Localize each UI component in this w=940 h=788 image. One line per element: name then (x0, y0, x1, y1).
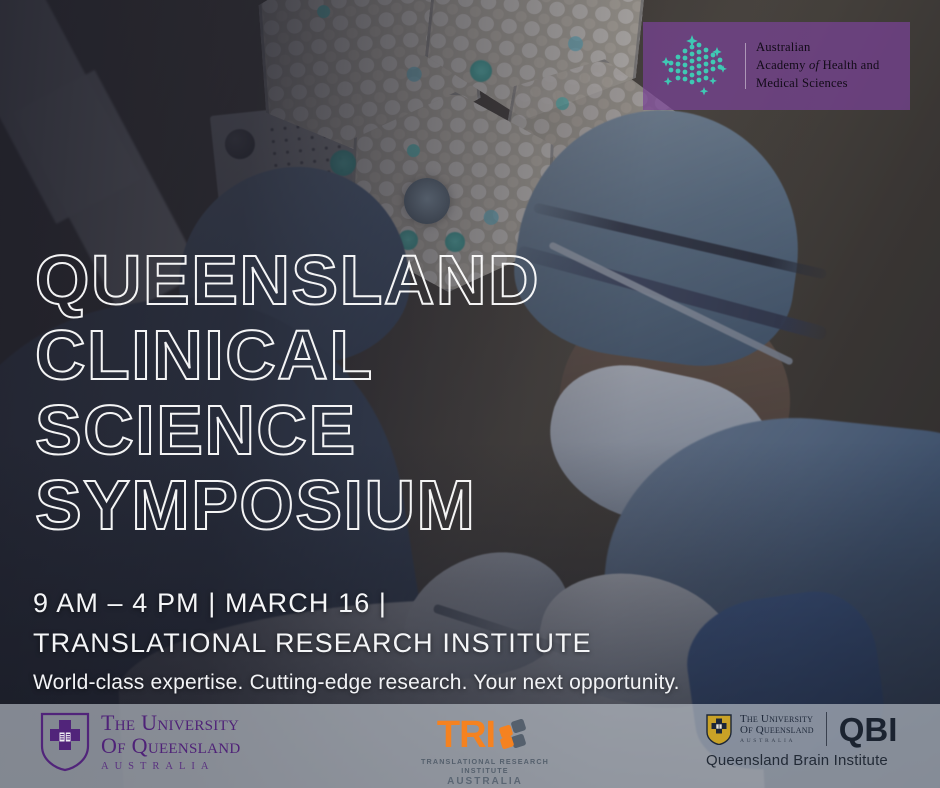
qbi-uq-line-3: AUSTRALIA (740, 739, 814, 745)
qbi-divider (826, 712, 827, 746)
aahms-wordmark: Australian Academy of Health and Medical… (756, 39, 879, 93)
poster-headline: QUEENSLAND CLINICAL SCIENCE SYMPOSIUM (35, 243, 655, 543)
australia-map-dots-icon (657, 33, 735, 99)
qbi-uq-wordmark: The University Of Queensland AUSTRALIA (740, 714, 814, 745)
tri-subtitle: TRANSLATIONAL RESEARCH INSTITUTE (405, 757, 565, 775)
event-poster: Australian Academy of Health and Medical… (0, 0, 940, 788)
aahms-line-2-italic: of (809, 58, 819, 72)
tri-diamond-icon (499, 719, 533, 751)
aahms-line-2: Academy of Health and (756, 57, 879, 75)
aahms-line-3: Medical Sciences (756, 75, 879, 93)
qbi-institute-name: Queensland Brain Institute (706, 752, 897, 769)
tri-wordmark: TRI (437, 716, 495, 754)
uq-line-3: AUSTRALIA (101, 762, 241, 773)
aahms-logo-panel: Australian Academy of Health and Medical… (643, 22, 910, 110)
tri-wordmark-row: TRI (405, 716, 565, 754)
uq-crest-icon (706, 714, 732, 745)
uq-line-2: Of Queensland (101, 735, 241, 758)
qbi-logo-row: The University Of Queensland AUSTRALIA Q… (706, 712, 897, 746)
uq-line-1: The University (101, 712, 241, 735)
event-tagline: World-class expertise. Cutting-edge rese… (33, 671, 853, 695)
uq-wordmark: The University Of Queensland AUSTRALIA (101, 712, 241, 773)
aahms-divider (745, 43, 746, 89)
tri-country: AUSTRALIA (405, 776, 565, 787)
uq-logo: The University Of Queensland AUSTRALIA (40, 712, 241, 773)
aahms-line-2-a: Academy (756, 58, 809, 72)
uq-crest-icon (40, 712, 90, 772)
aahms-line-1: Australian (756, 39, 879, 57)
qbi-logo: The University Of Queensland AUSTRALIA Q… (706, 712, 897, 769)
aahms-line-2-b: Health and (819, 58, 879, 72)
event-details: 9 AM – 4 PM | MARCH 16 | TRANSLATIONAL R… (33, 583, 653, 663)
tri-logo: TRI TRANSLATIONAL RESEARCH INSTITUTE AUS… (405, 716, 565, 787)
qbi-uq-line-2: Of Queensland (740, 725, 814, 737)
qbi-wordmark: QBI (839, 713, 898, 746)
